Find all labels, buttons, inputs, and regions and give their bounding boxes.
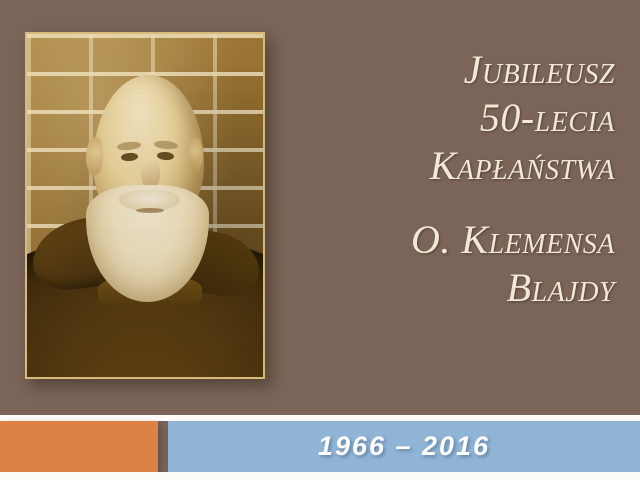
- slide-title-area: Jubileusz 50-lecia Kapłaństwa O. Klemens…: [280, 46, 615, 312]
- title-block-jubilee: Jubileusz 50-lecia Kapłaństwa: [280, 46, 615, 190]
- footer-date-bar: 1966 – 2016: [168, 421, 640, 472]
- slide-bottom-margin: [0, 472, 640, 480]
- portrait-photo: [25, 32, 265, 379]
- title-line-5: Blajdy: [280, 264, 615, 312]
- portrait-photo-frame: [25, 32, 265, 379]
- footer-accent-block: [0, 421, 158, 472]
- title-line-4: O. Klemensa: [280, 216, 615, 264]
- sepia-tone-overlay: [27, 34, 263, 377]
- title-line-1: Jubileusz: [280, 46, 615, 94]
- title-line-3: Kapłaństwa: [280, 142, 615, 190]
- presentation-slide: Jubileusz 50-lecia Kapłaństwa O. Klemens…: [0, 0, 640, 480]
- footer-date-text: 1966 – 2016: [318, 431, 490, 462]
- title-block-name: O. Klemensa Blajdy: [280, 216, 615, 312]
- title-line-2: 50-lecia: [280, 94, 615, 142]
